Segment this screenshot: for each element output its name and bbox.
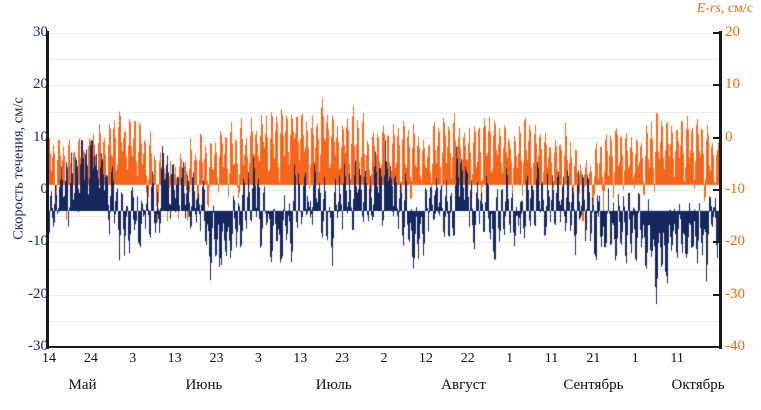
x-axis-day-label: 23: [322, 352, 362, 366]
x-axis-day-label: 13: [280, 352, 320, 366]
right-axis-tick-label: 10: [725, 77, 761, 92]
left-axis-tick-label: -20: [6, 287, 48, 302]
right-axis-title-symbol: E-rs: [697, 1, 721, 16]
x-axis-day-label: 14: [29, 352, 69, 366]
x-axis-day-label: 3: [113, 352, 153, 366]
right-axis-tick-label: -10: [725, 182, 761, 197]
x-axis-day-label: 1: [490, 352, 530, 366]
x-axis-day-label: 23: [197, 352, 237, 366]
right-axis-tick-mark: [713, 241, 720, 243]
right-axis-title: E-rs, см/с: [697, 1, 753, 17]
left-axis-tick-label: 20: [6, 77, 48, 92]
right-axis-tick-label: 20: [725, 25, 761, 40]
x-axis-day-label: 1: [615, 352, 655, 366]
x-axis-month-label: Июнь: [144, 378, 264, 393]
right-axis-tick-label: -30: [725, 287, 761, 302]
x-axis-month-label: Сентябрь: [533, 378, 653, 393]
right-axis-tick-label: 0: [725, 130, 761, 145]
x-axis-day-label: 3: [238, 352, 278, 366]
right-axis-tick-label: -40: [725, 339, 761, 354]
right-axis-tick-mark: [713, 137, 720, 139]
left-axis-tick-label: 30: [6, 25, 48, 40]
bottom-axis-line: [46, 346, 722, 348]
right-axis-tick-mark: [713, 294, 720, 296]
left-axis-tick-label: 10: [6, 130, 48, 145]
series-layer: [49, 33, 719, 347]
right-axis-title-units: , см/с: [721, 1, 753, 16]
x-axis-day-label: 11: [657, 352, 697, 366]
x-axis-month-label: Июль: [274, 378, 394, 393]
x-axis-day-label: 12: [406, 352, 446, 366]
x-axis-day-label: 2: [364, 352, 404, 366]
right-axis-tick-mark: [713, 189, 720, 191]
x-axis-month-label: Май: [23, 378, 143, 393]
chart-figure: Скорость течения, см/с E-rs, см/с 302010…: [0, 0, 761, 410]
right-axis-tick-label: -20: [725, 234, 761, 249]
x-axis-day-label: 13: [155, 352, 195, 366]
plot-area: [49, 33, 719, 347]
right-axis-tick-mark: [713, 346, 720, 348]
left-axis-tick-label: 0: [6, 182, 48, 197]
right-axis-tick-mark: [713, 84, 720, 86]
x-axis-day-label: 24: [71, 352, 111, 366]
x-axis-day-label: 22: [448, 352, 488, 366]
left-axis-tick-label: -10: [6, 234, 48, 249]
x-axis-month-label: Август: [404, 378, 524, 393]
x-axis-month-label: Октябрь: [638, 378, 758, 393]
x-axis-day-label: 21: [573, 352, 613, 366]
series-current-speed: [49, 33, 719, 347]
x-axis-day-label: 11: [532, 352, 572, 366]
right-axis-tick-mark: [713, 32, 720, 34]
